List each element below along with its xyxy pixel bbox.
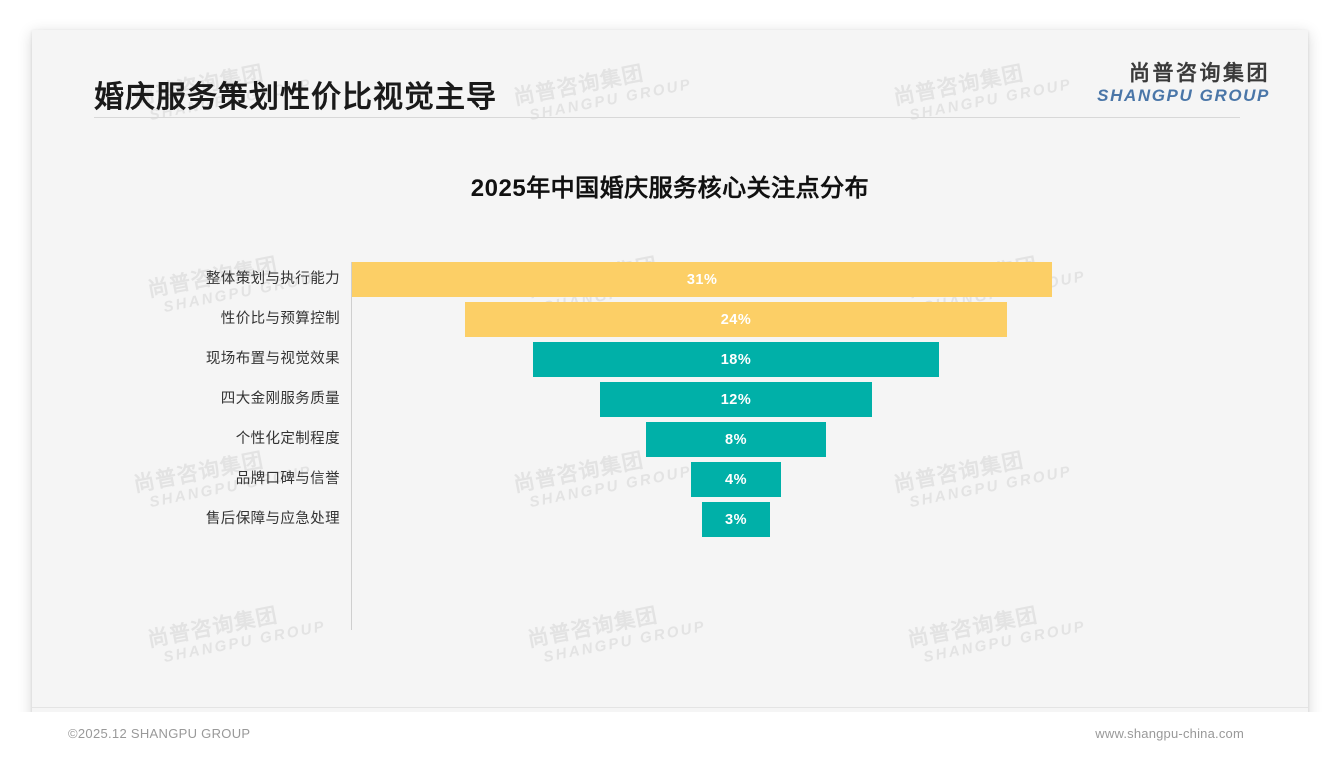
brand-logo: 尚普咨询集团 SHANGPU GROUP xyxy=(1097,62,1270,105)
footnote-divider xyxy=(32,707,1308,708)
slide-bottom-bar: ©2025.12 SHANGPU GROUP www.shangpu-china… xyxy=(0,712,1340,780)
chart-row: 个性化定制程度8% xyxy=(32,422,1308,457)
funnel-bar[interactable]: 24% xyxy=(465,302,1007,337)
bar-track: 18% xyxy=(352,342,1120,377)
chart-row: 四大金刚服务质量12% xyxy=(32,382,1308,417)
chart-rows: 整体策划与执行能力31%性价比与预算控制24%现场布置与视觉效果18%四大金刚服… xyxy=(32,262,1308,542)
category-label: 四大金刚服务质量 xyxy=(32,382,340,417)
bar-track: 12% xyxy=(352,382,1120,417)
funnel-bar[interactable]: 3% xyxy=(702,502,770,537)
chart-title: 2025年中国婚庆服务核心关注点分布 xyxy=(32,168,1308,203)
bar-track: 24% xyxy=(352,302,1120,337)
slide-root: 尚普咨询集团SHANGPU GROUP尚普咨询集团SHANGPU GROUP尚普… xyxy=(0,0,1340,780)
website-link[interactable]: www.shangpu-china.com xyxy=(1095,726,1244,741)
category-label: 现场布置与视觉效果 xyxy=(32,342,340,377)
bar-track: 8% xyxy=(352,422,1120,457)
chart-row: 品牌口碑与信誉4% xyxy=(32,462,1308,497)
funnel-bar[interactable]: 12% xyxy=(600,382,871,417)
chart-row: 现场布置与视觉效果18% xyxy=(32,342,1308,377)
brand-name-cn: 尚普咨询集团 xyxy=(1097,62,1270,86)
bar-value-label: 8% xyxy=(725,432,747,448)
header-divider xyxy=(94,117,1240,118)
slide-header: 婚庆服务策划性价比视觉主导 尚普咨询集团 SHANGPU GROUP xyxy=(32,30,1308,122)
category-label: 性价比与预算控制 xyxy=(32,302,340,337)
funnel-bar[interactable]: 4% xyxy=(691,462,781,497)
category-label: 个性化定制程度 xyxy=(32,422,340,457)
bar-value-label: 24% xyxy=(721,312,752,328)
bar-value-label: 12% xyxy=(721,392,752,408)
bar-value-label: 3% xyxy=(725,512,747,528)
funnel-bar[interactable]: 31% xyxy=(352,262,1052,297)
bar-value-label: 31% xyxy=(687,272,718,288)
bar-track: 31% xyxy=(352,262,1120,297)
bar-track: 4% xyxy=(352,462,1120,497)
funnel-chart: 整体策划与执行能力31%性价比与预算控制24%现场布置与视觉效果18%四大金刚服… xyxy=(32,248,1308,648)
bar-value-label: 4% xyxy=(725,472,747,488)
category-label: 售后保障与应急处理 xyxy=(32,502,340,537)
funnel-bar[interactable]: 18% xyxy=(533,342,940,377)
chart-row: 性价比与预算控制24% xyxy=(32,302,1308,337)
funnel-bar[interactable]: 8% xyxy=(646,422,827,457)
chart-axis-line xyxy=(351,262,352,630)
bar-value-label: 18% xyxy=(721,352,752,368)
bar-track: 3% xyxy=(352,502,1120,537)
category-label: 整体策划与执行能力 xyxy=(32,262,340,297)
slide-card: 尚普咨询集团SHANGPU GROUP尚普咨询集团SHANGPU GROUP尚普… xyxy=(32,30,1308,742)
chart-row: 售后保障与应急处理3% xyxy=(32,502,1308,537)
chart-row: 整体策划与执行能力31% xyxy=(32,262,1308,297)
brand-name-en: SHANGPU GROUP xyxy=(1097,86,1270,105)
category-label: 品牌口碑与信誉 xyxy=(32,462,340,497)
copyright-text: ©2025.12 SHANGPU GROUP xyxy=(68,726,250,741)
page-title: 婚庆服务策划性价比视觉主导 xyxy=(94,72,497,116)
